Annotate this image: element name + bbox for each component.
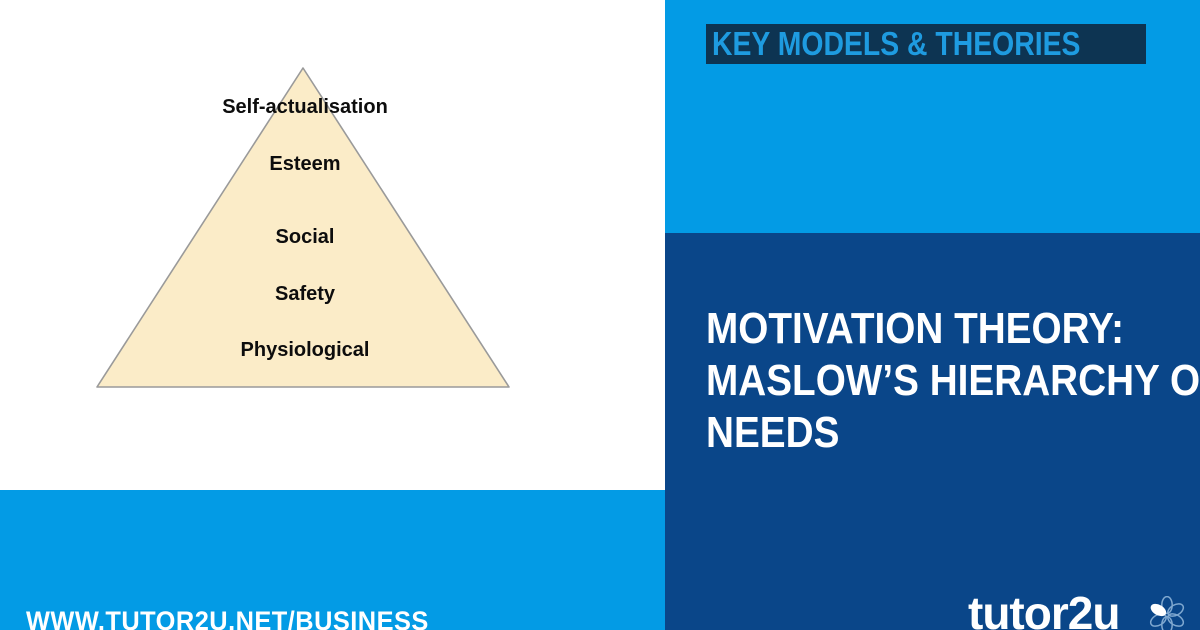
tutor2u-logo: tutor2u: [968, 596, 1200, 630]
page-title-line-2: MASLOW’S HIERARCHY OF: [706, 355, 1120, 407]
pyramid-level-label-social: Social: [90, 226, 520, 248]
pyramid-level-label-safety: Safety: [90, 283, 520, 305]
page-title: MOTIVATION THEORY: MASLOW’S HIERARCHY OF…: [706, 303, 1176, 459]
page-title-line-1: MOTIVATION THEORY:: [706, 303, 1120, 355]
eyebrow-label: KEY MODELS & THEORIES: [712, 27, 1080, 60]
left-image-panel: Self-actualisation Esteem Social Safety …: [0, 0, 665, 630]
maslow-pyramid-figure: Self-actualisation Esteem Social Safety …: [90, 60, 520, 400]
pyramid-level-label-self-actualisation: Self-actualisation: [90, 96, 520, 118]
page-title-line-3: NEEDS: [706, 407, 1120, 459]
site-url-text: WWW.TUTOR2U.NET/BUSINESS: [26, 606, 609, 630]
pyramid-level-label-esteem: Esteem: [90, 153, 520, 175]
eyebrow-highlight-block: KEY MODELS & THEORIES: [706, 24, 1146, 64]
pyramid-level-label-physiological: Physiological: [90, 339, 520, 361]
flower-icon: [1144, 596, 1190, 630]
right-title-panel: KEY MODELS & THEORIES MOTIVATION THEORY:…: [665, 0, 1200, 630]
slide-canvas: Self-actualisation Esteem Social Safety …: [0, 0, 1200, 630]
tutor2u-wordmark: tutor2u: [968, 596, 1119, 630]
